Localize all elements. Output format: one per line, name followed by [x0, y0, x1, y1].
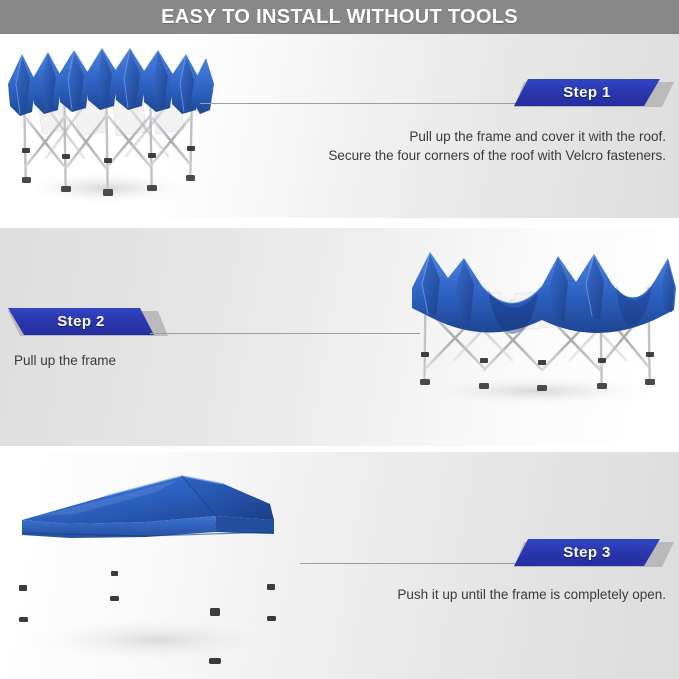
- step-1-badge-body: Step 1: [514, 79, 660, 106]
- canopy-frame-with-roof-draped-image: [2, 40, 216, 212]
- step-2-caption: Pull up the frame: [14, 351, 314, 370]
- instruction-graphic: EASY TO INSTALL WITHOUT TOOLS: [0, 0, 679, 679]
- step-3-caption: Push it up until the frame is completely…: [280, 585, 666, 604]
- step-2-badge: Step 2: [8, 308, 168, 336]
- step-3-badge-label: Step 3: [563, 544, 610, 561]
- step-1-connector-line: [200, 103, 530, 104]
- step-2-badge-body: Step 2: [8, 308, 154, 335]
- section-divider-2: [0, 446, 679, 452]
- canopy-fully-open-image: [6, 458, 336, 673]
- step-3-section: Step 3 Push it up until the frame is com…: [0, 452, 679, 679]
- step-3-connector-line: [300, 563, 526, 564]
- step-1-section: Step 1 Pull up the frame and cover it wi…: [0, 34, 679, 218]
- header-bar: EASY TO INSTALL WITHOUT TOOLS: [0, 0, 679, 34]
- canopy-frame-partially-extended-image: [396, 236, 678, 411]
- step-2-section: Step 2 Pull up the frame: [0, 228, 679, 446]
- step-2-badge-label: Step 2: [57, 313, 104, 330]
- step-3-badge-body: Step 3: [514, 539, 660, 566]
- step-1-caption: Pull up the frame and cover it with the …: [260, 127, 666, 165]
- step-3-badge: Step 3: [514, 539, 674, 567]
- step-1-badge: Step 1: [514, 79, 674, 107]
- step-1-badge-label: Step 1: [563, 84, 610, 101]
- step-2-connector-line: [150, 333, 420, 334]
- page-title: EASY TO INSTALL WITHOUT TOOLS: [161, 6, 518, 29]
- section-divider-1: [0, 218, 679, 228]
